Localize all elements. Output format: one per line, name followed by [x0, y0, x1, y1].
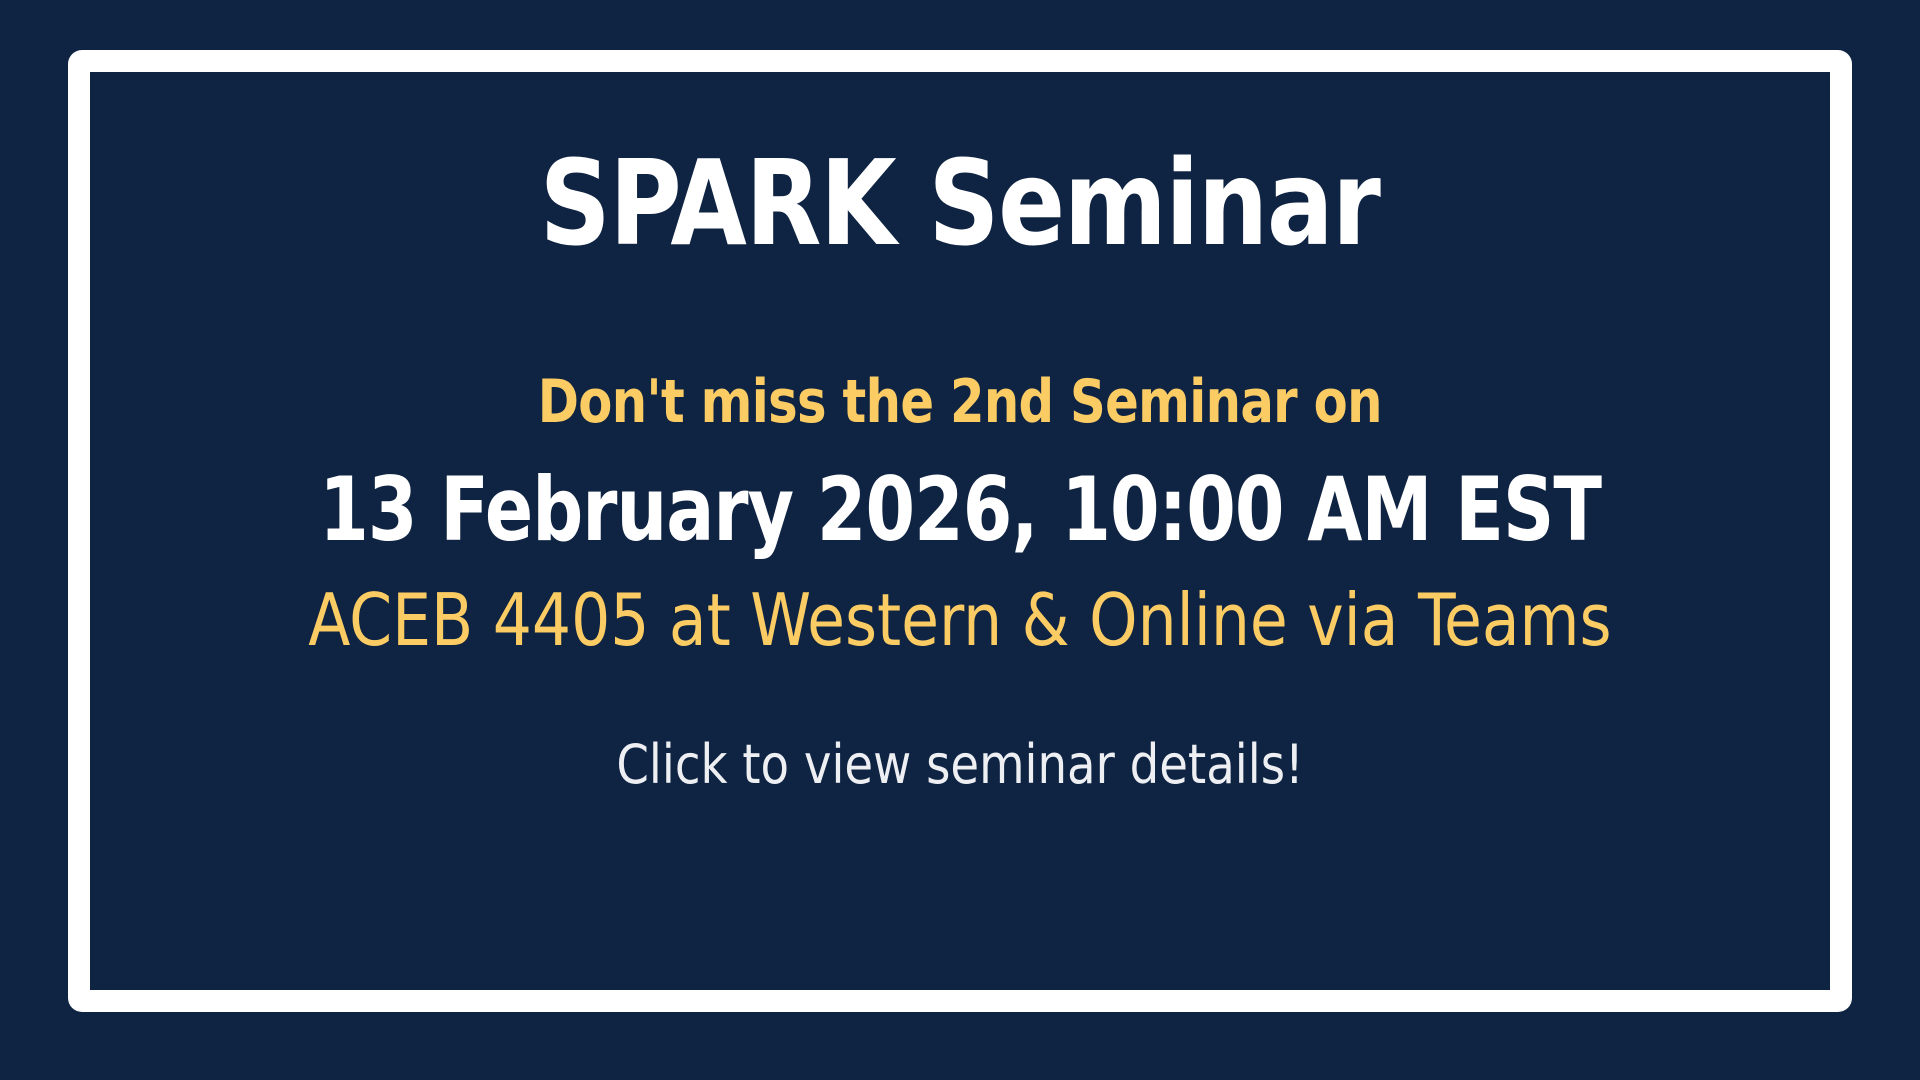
banner-location: ACEB 4405 at Western & Online via Teams	[308, 584, 1611, 656]
spark-seminar-banner[interactable]: SPARK Seminar Don't miss the 2nd Seminar…	[0, 0, 1920, 1080]
banner-subtitle: Don't miss the 2nd Seminar on	[538, 372, 1382, 432]
banner-content: SPARK Seminar Don't miss the 2nd Seminar…	[90, 72, 1830, 990]
banner-datetime: 13 February 2026, 10:00 AM EST	[319, 466, 1601, 554]
banner-cta-text[interactable]: Click to view seminar details!	[616, 738, 1303, 792]
banner-title: SPARK Seminar	[540, 144, 1380, 262]
